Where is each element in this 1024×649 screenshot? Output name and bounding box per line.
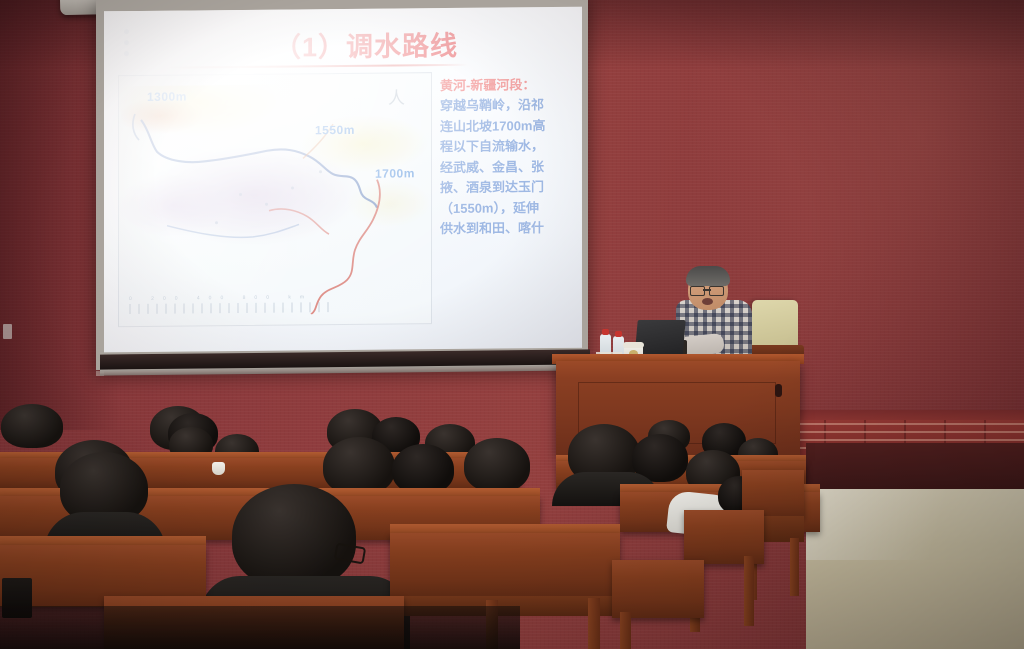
slide-body-line-5: 掖、酒泉到达玉门 [440, 177, 578, 199]
presenter-hair [686, 266, 730, 286]
audience-head [1, 404, 63, 448]
bench-leg [790, 538, 799, 596]
aisle-floor [806, 560, 1024, 649]
slide-body-text: 黄河-新疆河段： 穿越乌鞘岭，沿祁 连山北坡1700m高 程以下自流输水， 经武… [440, 75, 578, 240]
slide-body-line-3: 程以下自流输水， [440, 136, 578, 158]
map-city-dot [215, 221, 218, 224]
light-switch[interactable] [3, 324, 12, 339]
slide-body-line-1: 穿越乌鞘岭，沿祁 [440, 95, 578, 117]
map-elevation-label-1700m: 1700m [375, 166, 415, 180]
wall-wainscot [806, 443, 1024, 493]
audience-cup [212, 462, 225, 475]
bench-back [612, 560, 704, 618]
bench-leg [620, 612, 631, 649]
map-city-dot [239, 193, 242, 196]
map-compass-icon: 人 [388, 83, 405, 108]
slide-body-line-2: 连山北坡1700m高 [440, 115, 578, 137]
audience-head [392, 444, 454, 494]
foreground-student-with-glasses [232, 484, 356, 588]
slide-body-heading: 黄河-新疆河段： [440, 75, 578, 96]
bench-leg [588, 598, 600, 649]
foreground-shadow [0, 606, 520, 649]
map-city-dot [319, 170, 322, 173]
audience-head [323, 437, 395, 495]
bench-leg [744, 556, 754, 626]
slide-body-line-6: （1550m），延伸 [440, 198, 578, 220]
presentation-slide: （1）调水路线 1300m 1550m 1700m [104, 7, 582, 353]
audience-head [464, 438, 530, 492]
map-city-dot [291, 186, 294, 189]
slide-body-line-7: 供水到和田、喀什 [440, 218, 578, 240]
presenter-mouth [702, 298, 713, 305]
route-map: 1300m 1550m 1700m 人 0 200 400 800 km [118, 72, 432, 327]
bench-back [390, 533, 620, 599]
presenter-glasses-icon [690, 286, 724, 294]
lecture-hall-scene: （1）调水路线 1300m 1550m 1700m [0, 0, 1024, 649]
map-scale-bar [129, 302, 329, 314]
slide-title: （1）调水路线 [196, 23, 536, 65]
map-red-boundary-route [259, 173, 429, 315]
slide-body-line-4: 经武威、金昌、张 [440, 156, 578, 178]
map-elevation-label-1550m: 1550m [315, 123, 355, 137]
map-elevation-label-1300m: 1300m [147, 89, 187, 103]
podium-knob [775, 384, 782, 397]
slide-bullet-marks [124, 23, 138, 62]
map-city-dot [265, 203, 268, 206]
